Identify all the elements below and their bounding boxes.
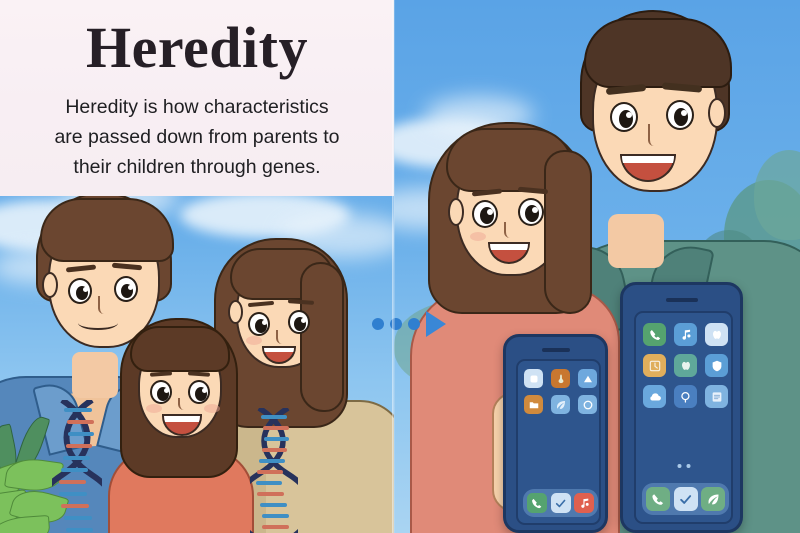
- daughter-hair-side: [544, 150, 592, 314]
- daughter-eye-left: [472, 200, 498, 228]
- checkmark-icon[interactable]: [674, 487, 698, 511]
- text-banner: Heredity Heredity is how characteristics…: [0, 0, 394, 196]
- dna-helix-icon: [52, 400, 102, 533]
- mother-eye-left: [248, 312, 270, 336]
- left-panel-family-portrait: Heredity Heredity is how characteristics…: [0, 0, 394, 533]
- folder-icon[interactable]: [524, 395, 543, 414]
- app-dock[interactable]: [642, 483, 729, 515]
- father-neck-right: [608, 214, 664, 268]
- tool-icon[interactable]: [551, 369, 570, 388]
- apple-icon[interactable]: [705, 323, 728, 346]
- circle-icon[interactable]: [578, 395, 597, 414]
- mother-cheek: [246, 336, 262, 345]
- apple-icon[interactable]: [674, 354, 697, 377]
- subtitle-line-1: Heredity is how characteristics: [6, 92, 388, 122]
- child-eye-right: [188, 380, 210, 404]
- music-note-icon[interactable]: [674, 323, 697, 346]
- father-eye-left-right: [610, 102, 638, 132]
- father-neck: [72, 352, 118, 398]
- father-hair-fringe-right: [584, 18, 732, 88]
- clock-icon[interactable]: [643, 354, 666, 377]
- daughter-phone[interactable]: [503, 334, 608, 533]
- page-subtitle: Heredity is how characteristics are pass…: [6, 92, 388, 182]
- checkmark-icon[interactable]: [551, 493, 571, 513]
- father-mouth: [78, 316, 118, 330]
- father-eye-right-right: [666, 100, 694, 130]
- phone-icon[interactable]: [527, 493, 547, 513]
- infographic-canvas: Heredity Heredity is how characteristics…: [0, 0, 800, 533]
- panel-divider: [392, 0, 395, 533]
- phone-icon[interactable]: [643, 323, 666, 346]
- phone-speaker: [542, 348, 570, 352]
- phone-speaker: [666, 298, 698, 302]
- leaf-icon[interactable]: [551, 395, 570, 414]
- father-eye-left: [68, 278, 92, 304]
- app-grid[interactable]: [524, 369, 597, 414]
- child-eye-left: [150, 380, 172, 404]
- search-icon[interactable]: [674, 385, 697, 408]
- daughter-ear: [448, 198, 464, 226]
- mother-eye-right: [288, 310, 310, 334]
- page-dots: [677, 464, 690, 468]
- cloud-icon[interactable]: [643, 385, 666, 408]
- father-nose: [98, 296, 108, 314]
- arrow-dot: [408, 318, 420, 330]
- child-cheek: [204, 404, 220, 413]
- shield-icon[interactable]: [705, 354, 728, 377]
- child-hair-fringe: [130, 326, 230, 372]
- subtitle-line-3: their children through genes.: [6, 152, 388, 182]
- daughter-nose: [504, 222, 514, 238]
- transition-arrow: [372, 310, 472, 350]
- square-icon[interactable]: [524, 369, 543, 388]
- page-dot: [677, 464, 681, 468]
- father-hair-fringe: [40, 198, 174, 262]
- father-phone[interactable]: [620, 282, 743, 533]
- app-dock[interactable]: [523, 489, 598, 517]
- phone-screen[interactable]: [516, 359, 601, 525]
- phone-screen[interactable]: [634, 311, 733, 524]
- page-dot: [686, 464, 690, 468]
- arrow-dot: [372, 318, 384, 330]
- mother-ear: [228, 300, 243, 324]
- father-ear: [42, 272, 58, 298]
- app-grid[interactable]: [643, 323, 728, 408]
- dna-helix-icon: [250, 408, 298, 533]
- child-cheek: [146, 404, 162, 413]
- daughter-eye-right: [518, 198, 544, 226]
- father-ear-right: [708, 98, 726, 128]
- subtitle-line-2: are passed down from parents to: [6, 122, 388, 152]
- notes-icon[interactable]: [705, 385, 728, 408]
- father-eye-right: [114, 276, 138, 302]
- child-nose: [178, 398, 185, 410]
- music-note-icon[interactable]: [574, 493, 594, 513]
- phone-icon[interactable]: [646, 487, 670, 511]
- daughter-cheek: [470, 232, 486, 241]
- page-title: Heredity: [0, 14, 394, 81]
- triangle-icon[interactable]: [578, 369, 597, 388]
- mother-hair-side: [300, 262, 344, 412]
- arrow-head: [426, 311, 446, 337]
- father-nose-right: [648, 124, 660, 146]
- leaf-icon[interactable]: [701, 487, 725, 511]
- mother-nose: [276, 330, 284, 344]
